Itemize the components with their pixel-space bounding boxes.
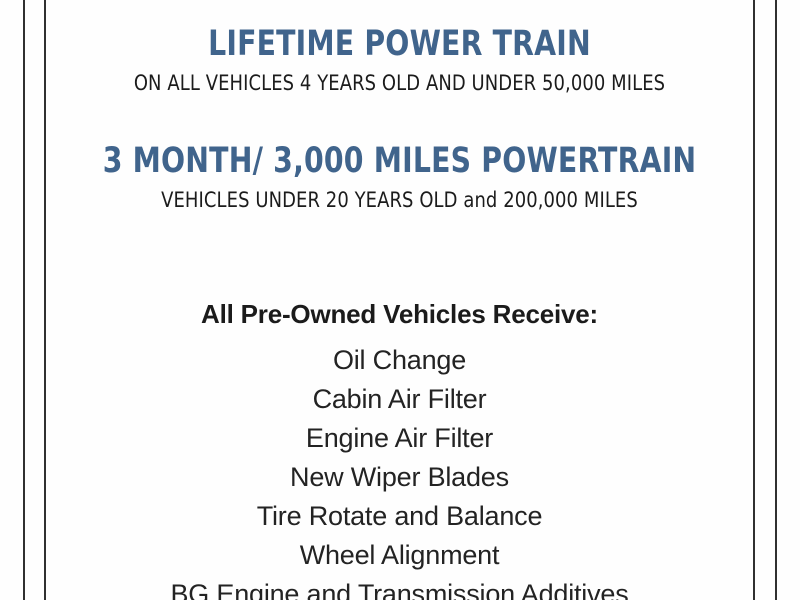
- flyer-content: LIFETIME POWER TRAIN ON ALL VEHICLES 4 Y…: [46, 0, 753, 600]
- frame-rule-left-outer: [23, 0, 25, 600]
- services-heading: All Pre-Owned Vehicles Receive:: [46, 301, 753, 327]
- flyer-page: LIFETIME POWER TRAIN ON ALL VEHICLES 4 Y…: [0, 0, 800, 600]
- service-list-item: Oil Change: [46, 341, 753, 380]
- service-list-item: Tire Rotate and Balance: [46, 497, 753, 536]
- warranty-block-three-month-powertrain: 3 MONTH/ 3,000 MILES POWERTRAIN VEHICLES…: [46, 144, 753, 212]
- service-list-item: Cabin Air Filter: [46, 380, 753, 419]
- service-list-item: New Wiper Blades: [46, 458, 753, 497]
- services-section: All Pre-Owned Vehicles Receive: Oil Chan…: [46, 301, 753, 600]
- warranty-block-lifetime-powertrain: LIFETIME POWER TRAIN ON ALL VEHICLES 4 Y…: [46, 27, 753, 95]
- service-list-item: Engine Air Filter: [46, 419, 753, 458]
- frame-rule-right-outer: [775, 0, 777, 600]
- warranty-title-lifetime-powertrain: LIFETIME POWER TRAIN: [81, 27, 717, 62]
- warranty-subtitle-lifetime-powertrain: ON ALL VEHICLES 4 YEARS OLD AND UNDER 50…: [64, 72, 736, 95]
- service-list-item: BG Engine and Transmission Additives: [46, 575, 753, 600]
- service-list-item: Wheel Alignment: [46, 536, 753, 575]
- services-list: Oil ChangeCabin Air FilterEngine Air Fil…: [46, 341, 753, 600]
- frame-rule-right-inner: [753, 0, 755, 600]
- warranty-subtitle-three-month-powertrain: VEHICLES UNDER 20 YEARS OLD and 200,000 …: [64, 189, 736, 212]
- warranty-title-three-month-powertrain: 3 MONTH/ 3,000 MILES POWERTRAIN: [81, 144, 717, 179]
